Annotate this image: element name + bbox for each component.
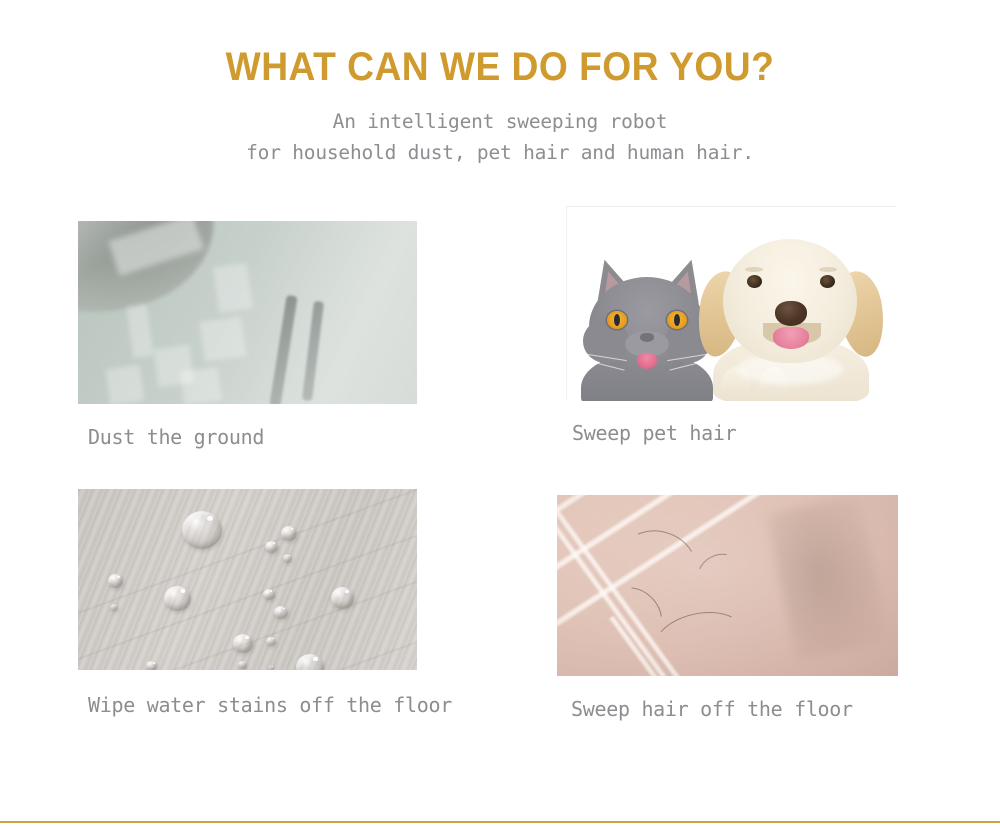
water-droplet	[281, 526, 297, 541]
feature-caption-sweep-hair-off-floor: Sweep hair off the floor	[571, 696, 853, 722]
water-droplet	[238, 661, 247, 669]
cat-pupil-left	[614, 314, 620, 326]
wood-floor-illustration	[78, 489, 417, 670]
wood-grain-line	[78, 571, 417, 670]
water-droplet	[182, 511, 222, 549]
water-droplet	[265, 541, 278, 553]
wood-grain-line	[110, 617, 417, 670]
feature-caption-wipe-water-stains: Wipe water stains off the floor	[88, 692, 452, 718]
dog-eye-left	[747, 275, 762, 288]
feature-grid: Dust the ground	[0, 0, 1000, 827]
cat-nose	[640, 333, 654, 342]
water-droplet	[274, 606, 288, 619]
floor-sheen-overlay	[78, 221, 417, 404]
bottom-divider	[0, 821, 1000, 823]
water-droplet	[266, 637, 276, 646]
water-droplet	[164, 586, 191, 611]
pink-tile-floor-illustration	[557, 495, 898, 676]
tile-vignette-overlay	[557, 495, 898, 676]
thumbnail-bathroom-sink-floor[interactable]	[78, 221, 417, 404]
water-droplet	[108, 574, 123, 588]
water-droplet	[296, 654, 324, 670]
water-droplet	[110, 604, 118, 611]
cat-pupil-right	[674, 314, 680, 326]
water-droplet	[331, 587, 354, 609]
bathroom-sink-illustration	[78, 221, 417, 404]
dog-nose	[775, 301, 807, 326]
gray-cat-illustration	[581, 257, 713, 401]
feature-caption-dust-the-ground: Dust the ground	[88, 424, 264, 450]
dog-brow-right	[819, 267, 837, 272]
cat-eye-right	[667, 311, 687, 329]
thumbnail-water-droplets-floor[interactable]	[78, 489, 417, 670]
water-droplet	[146, 661, 157, 670]
cat-eye-left	[607, 311, 627, 329]
feature-caption-sweep-pet-hair: Sweep pet hair	[572, 420, 736, 446]
dog-tongue	[773, 327, 809, 349]
water-droplet	[283, 554, 292, 563]
water-droplet	[233, 634, 253, 653]
water-droplet	[268, 665, 274, 670]
thumbnail-cat-and-dog[interactable]	[566, 206, 896, 401]
thumbnail-pink-tiled-floor[interactable]	[557, 495, 898, 676]
water-droplet	[263, 589, 275, 600]
cat-tongue	[637, 353, 657, 369]
golden-retriever-puppy-illustration	[697, 227, 883, 401]
pets-illustration	[567, 207, 896, 401]
dog-brow-left	[745, 267, 763, 272]
dog-eye-right	[820, 275, 835, 288]
